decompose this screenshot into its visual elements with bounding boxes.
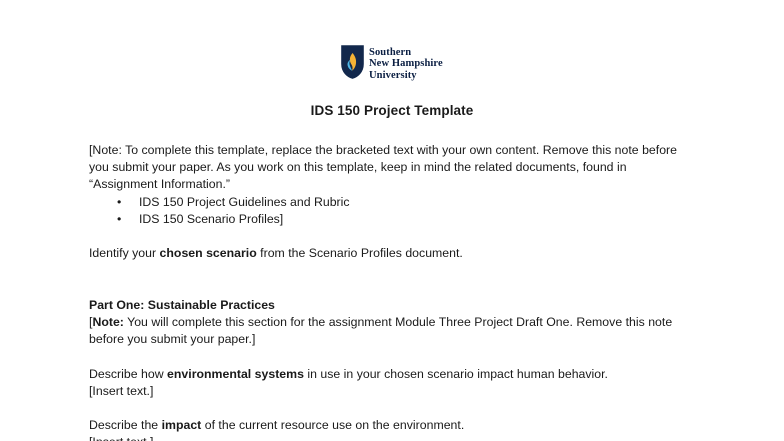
bullet-icon: • [117,211,121,228]
logo-line-2: New Hampshire [369,58,443,69]
list-item: • IDS 150 Project Guidelines and Rubric [89,194,685,211]
identify-text-after: from the Scenario Profiles document. [257,246,463,260]
prompt-one-text-before: Describe how [89,367,167,381]
blank-line [89,400,685,417]
list-item: • IDS 150 Scenario Profiles] [89,211,685,228]
bullet-icon: • [117,194,121,211]
page-title: IDS 150 Project Template [0,103,784,118]
prompt-two-insert-placeholder[interactable]: [Insert text.] [89,434,685,441]
list-item-label: IDS 150 Project Guidelines and Rubric [139,195,350,209]
note-label: Note: [92,315,123,329]
prompt-two-paragraph: Describe the impact of the current resou… [89,417,685,434]
blank-line [89,280,685,297]
identify-text-before: Identify your [89,246,160,260]
blank-line [89,262,685,279]
prompt-two-bold-phrase: impact [162,418,202,432]
prompt-two-text-before: Describe the [89,418,162,432]
note-intro-text: [Note: To complete this template, replac… [89,143,677,191]
identify-bold-phrase: chosen scenario [160,246,257,260]
document-page: Southern New Hampshire University IDS 15… [0,0,784,441]
shield-icon [341,45,364,79]
prompt-one-bold-phrase: environmental systems [167,367,304,381]
logo-line-1: Southern [369,47,443,58]
prompt-one-paragraph: Describe how environmental systems in us… [89,366,685,383]
logo-line-3: University [369,70,443,81]
note-body-text: You will complete this section for the a… [89,315,672,346]
prompt-two-text-after: of the current resource use on the envir… [201,418,464,432]
blank-line [89,348,685,365]
section-heading-part-one: Part One: Sustainable Practices [89,297,685,314]
note-intro-paragraph: [Note: To complete this template, replac… [89,142,685,194]
related-documents-list: • IDS 150 Project Guidelines and Rubric … [89,194,685,228]
snhu-logo-text: Southern New Hampshire University [369,45,443,81]
snhu-logo: Southern New Hampshire University [341,45,443,81]
part-one-note-paragraph: [Note: You will complete this section fo… [89,314,685,348]
document-body: [Note: To complete this template, replac… [89,142,685,441]
prompt-one-text-after: in use in your chosen scenario impact hu… [304,367,608,381]
blank-line [89,228,685,245]
list-item-label: IDS 150 Scenario Profiles] [139,212,283,226]
prompt-one-insert-placeholder[interactable]: [Insert text.] [89,383,685,400]
identify-scenario-paragraph: Identify your chosen scenario from the S… [89,245,685,262]
